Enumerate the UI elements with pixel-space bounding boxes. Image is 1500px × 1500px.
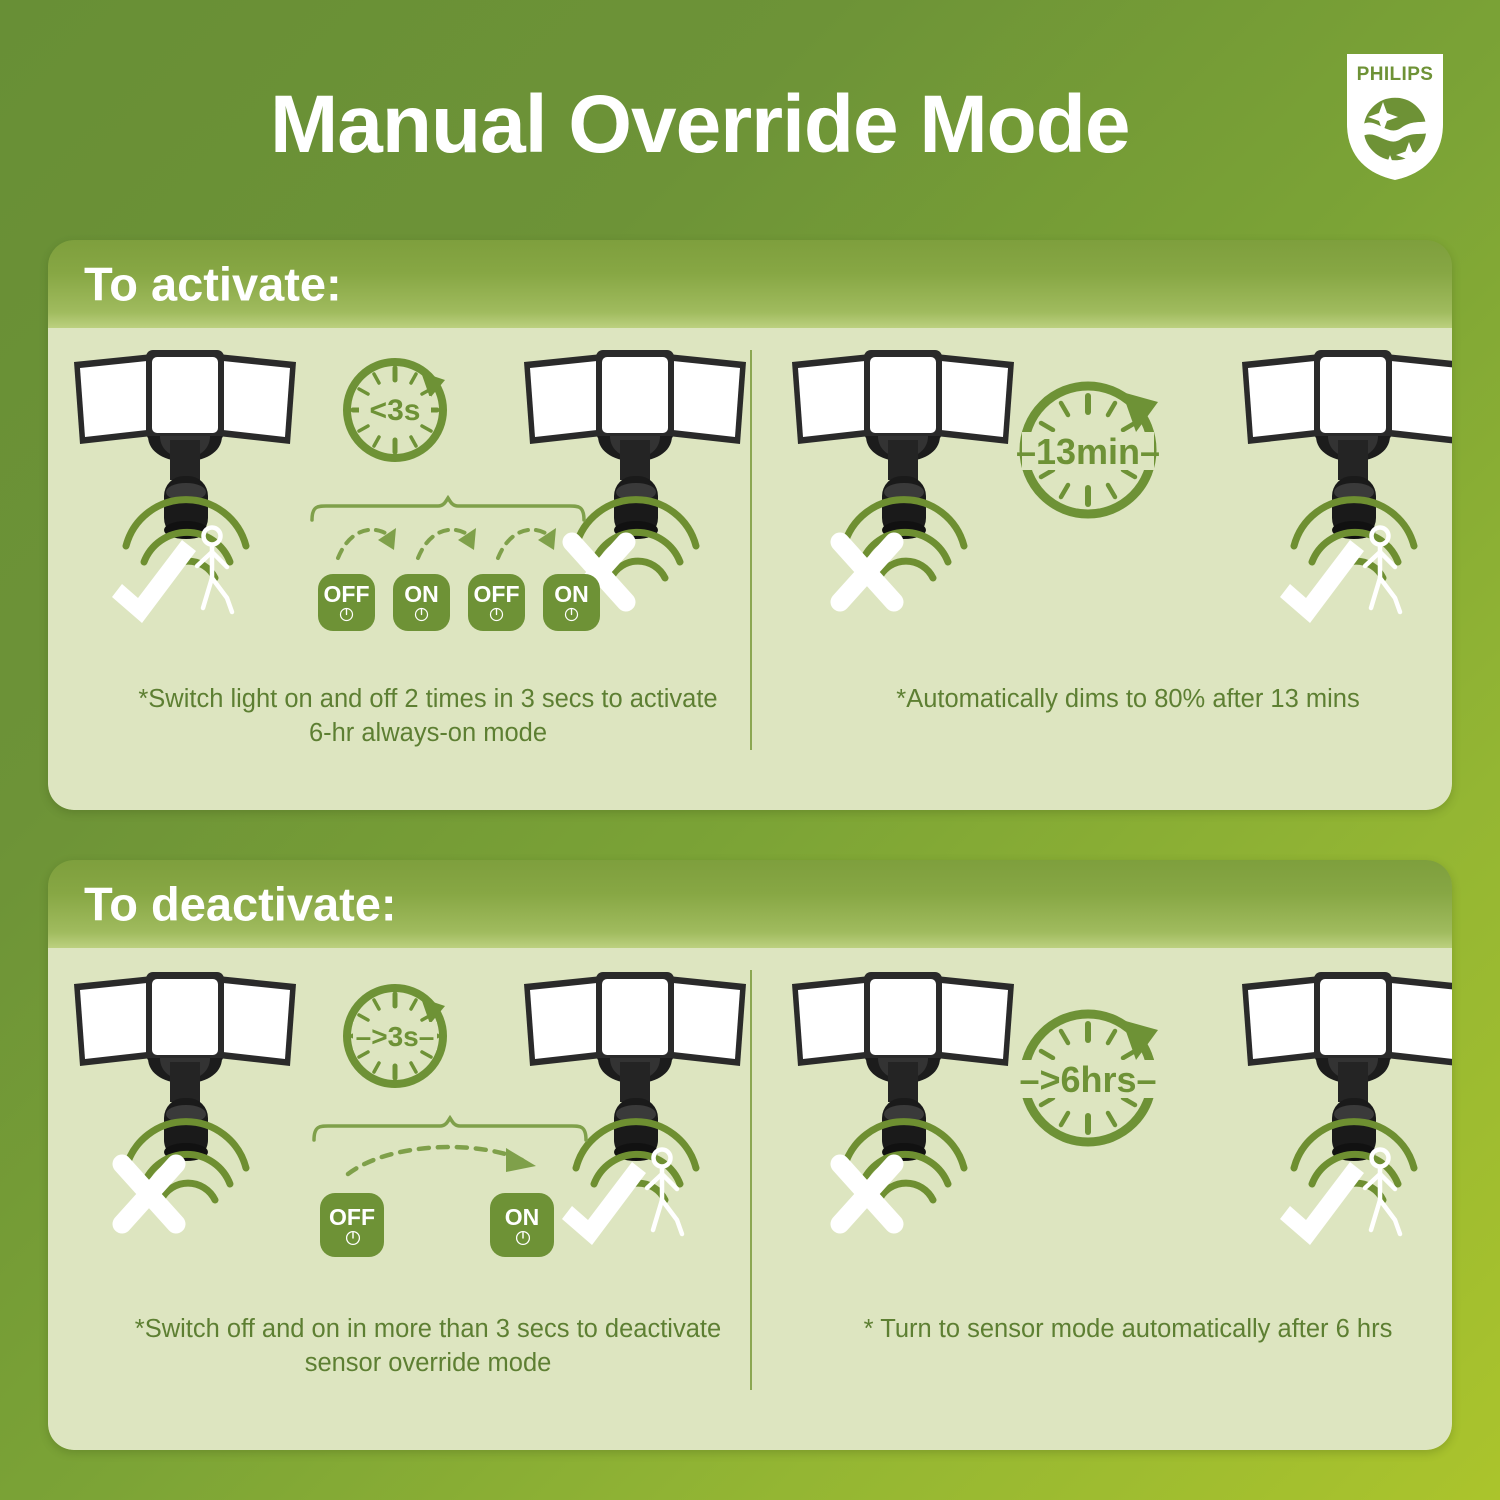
- page-title: Manual Override Mode: [270, 78, 1270, 172]
- timer-label: –13min–: [1016, 431, 1160, 472]
- button-label: OFF: [329, 1206, 375, 1229]
- activate-right-timer: –13min–: [1008, 370, 1168, 530]
- check-icon: [112, 540, 196, 623]
- security-light-icon: [74, 350, 296, 539]
- deactivate-right-lamp-after: [1228, 962, 1452, 1242]
- check-icon: [1280, 1162, 1364, 1245]
- deactivate-left-timer: –>3s–: [335, 976, 455, 1096]
- timer-label: –>3s–: [356, 1021, 435, 1052]
- panel-deactivate: To deactivate:: [48, 860, 1452, 1450]
- button-label: OFF: [474, 583, 520, 606]
- security-light-icon: [74, 972, 296, 1161]
- activate-left-caption: *Switch light on and off 2 times in 3 se…: [128, 683, 728, 751]
- button-label: ON: [404, 583, 439, 606]
- activate-left-lamp-before: [60, 340, 310, 620]
- svg-text:PHILIPS: PHILIPS: [1357, 64, 1434, 85]
- timer-label: –>6hrs–: [1019, 1059, 1156, 1100]
- panel-activate-header: To activate:: [48, 240, 1452, 328]
- activate-left-sequence-bracket: [308, 498, 588, 573]
- activate-button-on-1[interactable]: ON: [393, 574, 450, 631]
- security-light-icon: [792, 350, 1014, 539]
- activate-right-lamp-after: [1228, 340, 1452, 620]
- check-icon: [1280, 540, 1364, 623]
- panel-activate-heading: To activate:: [84, 257, 342, 312]
- button-label: ON: [505, 1206, 540, 1229]
- deactivate-button-on[interactable]: ON: [490, 1193, 554, 1257]
- deactivate-right-caption: * Turn to sensor mode automatically afte…: [808, 1313, 1448, 1347]
- activate-right-lamp-before: [778, 340, 1028, 620]
- activate-left-timer: <3s: [335, 350, 455, 470]
- philips-shield-icon: PHILIPS: [1345, 52, 1445, 182]
- panel-deactivate-heading: To deactivate:: [84, 877, 397, 932]
- panel-activate-body: <3s: [48, 328, 1452, 810]
- panel-deactivate-body: –>3s–: [48, 948, 1452, 1450]
- power-icon: [564, 607, 579, 622]
- power-icon: [345, 1230, 360, 1245]
- security-light-icon: [1242, 350, 1452, 539]
- timer-label: <3s: [370, 394, 421, 427]
- activate-right-caption: *Automatically dims to 80% after 13 mins: [828, 683, 1428, 717]
- deactivate-left-caption: *Switch off and on in more than 3 secs t…: [128, 1313, 728, 1381]
- security-light-icon: [1242, 972, 1452, 1161]
- deactivate-right-lamp-before: [778, 962, 1028, 1242]
- power-icon: [515, 1230, 530, 1245]
- power-icon: [489, 607, 504, 622]
- power-icon: [339, 607, 354, 622]
- power-icon: [414, 607, 429, 622]
- activate-button-on-2[interactable]: ON: [543, 574, 600, 631]
- page-header: Manual Override Mode PHILIPS: [0, 0, 1500, 225]
- panel-activate: To activate:: [48, 240, 1452, 810]
- activate-button-off-2[interactable]: OFF: [468, 574, 525, 631]
- deactivate-left-lamp-before: [60, 962, 310, 1242]
- deactivate-right-timer: –>6hrs–: [1008, 998, 1168, 1158]
- activate-button-off-1[interactable]: OFF: [318, 574, 375, 631]
- deactivate-button-off[interactable]: OFF: [320, 1193, 384, 1257]
- button-label: OFF: [324, 583, 370, 606]
- security-light-icon: [792, 972, 1014, 1161]
- panel-deactivate-header: To deactivate:: [48, 860, 1452, 948]
- button-label: ON: [554, 583, 589, 606]
- deactivate-left-sequence-bracket: [310, 1118, 590, 1193]
